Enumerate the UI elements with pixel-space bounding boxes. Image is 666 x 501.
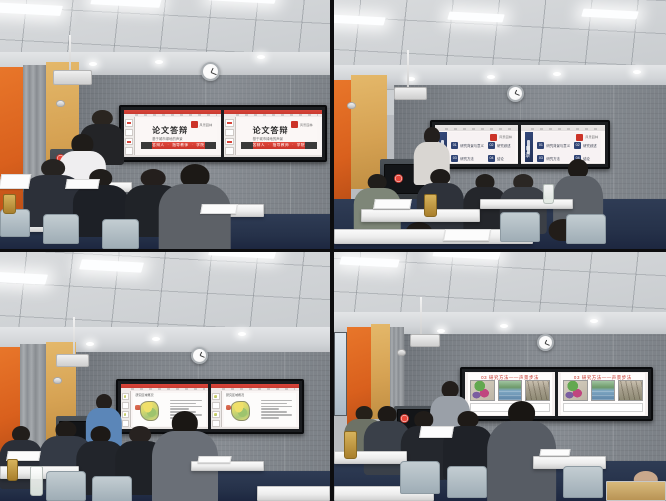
logo-mark-icon	[191, 121, 198, 128]
wall-clock	[507, 85, 524, 102]
paper-document	[442, 229, 491, 241]
slide-decor-box	[241, 142, 253, 149]
logo-mark-icon	[291, 121, 298, 128]
ppt-status-bar	[124, 155, 221, 156]
drink-bottle	[424, 194, 437, 216]
logo-mark-icon	[576, 134, 583, 141]
photo-tree-canopy	[618, 380, 642, 401]
text-line	[170, 408, 188, 409]
slide-footer-sep: ·	[168, 143, 170, 147]
logo-mark-icon	[490, 134, 497, 141]
ppt-thumbnail[interactable]	[212, 402, 220, 409]
projector	[410, 334, 440, 346]
text-line	[261, 406, 292, 407]
ppt-status-bar	[211, 427, 299, 428]
ppt-slide-stage: 目录 01 研究背景与意义 02 研究综述	[521, 131, 604, 163]
photo-water-feature	[498, 380, 522, 401]
agenda-item-number: 02	[574, 142, 581, 149]
desk	[361, 209, 481, 221]
slide-footer-sep: ·	[192, 143, 194, 147]
slide-logo-text: 风景园林	[585, 135, 598, 139]
slide-decor-box	[205, 142, 217, 149]
ppt-slide-stage: 风景园林 论文答辩 基于城市绿地的声景 感知与优化路径研究 答辩人 · 指导教师	[135, 117, 221, 155]
text-line	[170, 400, 201, 401]
slide-logo: 风景园林	[191, 121, 213, 128]
accent-wall-orange	[334, 80, 351, 209]
downlight	[238, 332, 246, 336]
dome-camera-icon	[56, 100, 65, 107]
agenda-item: 01 研究背景与意义	[537, 142, 570, 149]
text-line	[261, 411, 287, 412]
photo-collage: 风景园林 论文答辩 基于城市绿地的声景 感知与优化路径研究 答辩人 · 指导教师	[0, 0, 666, 501]
text-line	[261, 408, 279, 409]
agenda-item: 04 结论	[488, 155, 511, 162]
agenda-item-label: 研究综述	[497, 143, 511, 148]
display-right[interactable]: 风景园林 论文答辩 基于城市绿地的声景 感知与优化路径研究 答辩人 · 指导教师	[224, 110, 321, 157]
map-description	[261, 400, 294, 423]
ppt-status-bar	[224, 155, 321, 156]
projector	[56, 354, 89, 366]
dome-camera-icon	[53, 377, 62, 384]
agenda-sidebar: 目录	[525, 132, 533, 162]
ppt-ribbon	[124, 110, 221, 118]
downlight	[487, 75, 495, 79]
drink-bottle	[3, 194, 16, 214]
wall-clock	[537, 334, 554, 351]
paper-document	[197, 456, 231, 463]
projector-rod	[69, 35, 71, 70]
ppt-thumbnail[interactable]	[122, 393, 130, 400]
agenda-item-label: 研究方法	[460, 156, 474, 161]
projector	[53, 70, 93, 85]
wall-clock	[191, 347, 208, 364]
display-left[interactable]: 风景园林 论文答辩 基于城市绿地的声景 感知与优化路径研究 答辩人 · 指导教师	[124, 110, 221, 157]
display-right[interactable]: 03 研究方法——声景步法	[558, 372, 648, 417]
chair	[46, 471, 86, 501]
agenda-item-label: 研究背景与意义	[546, 143, 570, 148]
slide-footer-left: 答辩人	[152, 143, 164, 148]
projector-rod	[420, 297, 422, 334]
projector-rod	[407, 50, 409, 87]
text-line	[261, 414, 292, 415]
slide-map-layout: 研究区域概况	[224, 393, 296, 426]
chair	[447, 466, 487, 498]
text-line	[261, 403, 287, 404]
desk	[480, 199, 573, 209]
slide-agenda-layout: 目录 01 研究背景与意义 02 研究综述	[525, 132, 602, 162]
agenda-item-number: 03	[451, 155, 458, 162]
chair	[92, 476, 132, 501]
agenda-item-label: 研究背景与意义	[460, 143, 484, 148]
dome-camera-icon	[397, 349, 406, 356]
slide-logo: 风景园林	[291, 121, 313, 128]
ppt-thumbnail[interactable]	[122, 411, 130, 418]
ppt-thumbnail[interactable]	[225, 138, 234, 145]
ppt-thumbnail-pane[interactable]	[224, 117, 236, 157]
drink-bottle	[543, 184, 554, 204]
paper-document	[539, 449, 570, 456]
desk	[257, 486, 330, 501]
slide-footer-bar: 答辩人 · 指导教师 · 学院	[152, 142, 205, 149]
slide-decor-box	[141, 142, 153, 149]
projector-rod	[73, 317, 75, 354]
agenda-item-label: 研究综述	[583, 143, 597, 148]
body	[158, 184, 231, 249]
ppt-thumbnail[interactable]	[125, 138, 134, 145]
ppt-thumbnail[interactable]	[125, 129, 134, 136]
slide-footer-sep: ·	[268, 143, 270, 147]
text-line	[261, 400, 292, 401]
ppt-slide-stage: 风景园林 论文答辩 基于城市绿地的声景 感知与优化路径研究 答辩人 · 指导教师	[236, 117, 322, 155]
slide-footer-sep: ·	[292, 143, 294, 147]
paper-document	[65, 179, 100, 189]
agenda-item-label: 结论	[497, 156, 504, 161]
agenda-item-number: 03	[537, 155, 544, 162]
collage-panel-bottom-right: 03 研究方法——声景步法	[334, 252, 666, 501]
agenda-item: 02 研究综述	[574, 142, 597, 149]
collage-panel-top-left: 风景园林 论文答辩 基于城市绿地的声景 感知与优化路径研究 答辩人 · 指导教师	[0, 0, 330, 249]
interactive-display-pair[interactable]: 风景园林 论文答辩 基于城市绿地的声景 感知与优化路径研究 答辩人 · 指导教师	[119, 105, 327, 162]
chair	[43, 214, 79, 244]
agenda-item: 03 研究方法	[451, 155, 484, 162]
agenda-item-number: 04	[488, 155, 495, 162]
ppt-ribbon	[224, 110, 321, 118]
desk	[606, 481, 666, 501]
window	[334, 332, 347, 417]
photo-row	[470, 380, 549, 401]
display-right[interactable]: 研究区域概况	[211, 384, 299, 429]
slide-map-header: 研究区域概况	[226, 393, 244, 397]
agenda-item-number: 01	[537, 142, 544, 149]
slide-logo-text: 风景园林	[499, 135, 512, 139]
drink-bottle	[30, 466, 43, 496]
drink-bottle	[7, 459, 18, 481]
text-line	[170, 406, 201, 407]
paper-document	[373, 199, 411, 209]
photo-site-plan	[563, 380, 587, 401]
slide-footer-left: 答辩人	[253, 143, 265, 148]
agenda-item: 01 研究背景与意义	[451, 142, 484, 149]
paper-document	[419, 426, 454, 438]
collage-panel-top-right: 目录 01 研究背景与意义 02 研究综述	[334, 0, 666, 249]
photo-caption-block	[563, 403, 642, 412]
chair	[563, 466, 603, 498]
slide-title-layout: 风景园林 论文答辩 基于城市绿地的声景 感知与优化路径研究 答辩人 · 指导教师	[240, 119, 317, 153]
photo-row	[563, 380, 642, 401]
downlight	[152, 337, 160, 341]
ppt-thumbnail[interactable]	[125, 147, 134, 154]
slide-logo-text: 风景园林	[300, 123, 313, 127]
ppt-thumbnail[interactable]	[225, 129, 234, 136]
projector	[394, 87, 427, 99]
collage-panel-bottom-left: 研究区域概况	[0, 252, 330, 501]
text-line	[261, 417, 279, 418]
photo-site-plan	[470, 380, 494, 401]
ppt-ribbon	[121, 384, 209, 391]
chair	[500, 212, 540, 242]
display-right[interactable]: 目录 01 研究背景与意义 02 研究综述	[521, 125, 604, 165]
map-figure	[226, 400, 259, 423]
slide-logo: 风景园林	[490, 134, 512, 141]
drink-bottle	[344, 431, 357, 458]
text-line	[170, 403, 196, 404]
ppt-thumbnail[interactable]	[122, 402, 130, 409]
slide-footer-mid: 指导教师	[172, 143, 188, 148]
downlight	[86, 342, 94, 346]
ppt-slide-stage: 研究区域概况	[222, 391, 299, 427]
slide-footer-right: 学院	[196, 143, 204, 148]
chair	[400, 461, 440, 493]
slide-footer-right: 学院	[297, 143, 305, 148]
paper-document	[200, 204, 238, 214]
downlight	[155, 60, 163, 64]
map-landuse-shape	[231, 401, 250, 421]
slide-decor-box	[305, 142, 317, 149]
slide-title-layout: 风景园林 论文答辩 基于城市绿地的声景 感知与优化路径研究 答辩人 · 指导教师	[140, 119, 217, 153]
ppt-thumbnail[interactable]	[225, 119, 234, 126]
slide-footer-bar: 答辩人 · 指导教师 · 学院	[253, 142, 306, 149]
ppt-thumbnail-pane[interactable]	[124, 117, 136, 157]
slide-map-header: 研究区域概况	[135, 393, 153, 397]
chair	[102, 219, 138, 249]
chair	[566, 214, 606, 244]
downlight	[633, 70, 641, 74]
ppt-thumbnail[interactable]	[212, 393, 220, 400]
agenda-item-number: 02	[488, 142, 495, 149]
paper-document	[0, 174, 31, 189]
agenda-item: 02 研究综述	[488, 142, 511, 149]
slide-logo: 风景园林	[576, 134, 598, 141]
downlight	[257, 55, 265, 59]
photo-tree-canopy	[525, 380, 549, 401]
ppt-thumbnail[interactable]	[225, 147, 234, 154]
ppt-thumbnail[interactable]	[125, 119, 134, 126]
slide-logo-text: 风景园林	[200, 123, 213, 127]
wood-panel	[371, 324, 391, 419]
photo-water-feature	[591, 380, 615, 401]
ppt-ribbon	[211, 384, 299, 391]
agenda-item-number: 01	[451, 142, 458, 149]
slide-photo-layout: 03 研究方法——声景步法	[561, 373, 645, 414]
agenda-side-label: 目录	[525, 145, 533, 159]
slide-footer-mid: 指导教师	[273, 143, 289, 148]
